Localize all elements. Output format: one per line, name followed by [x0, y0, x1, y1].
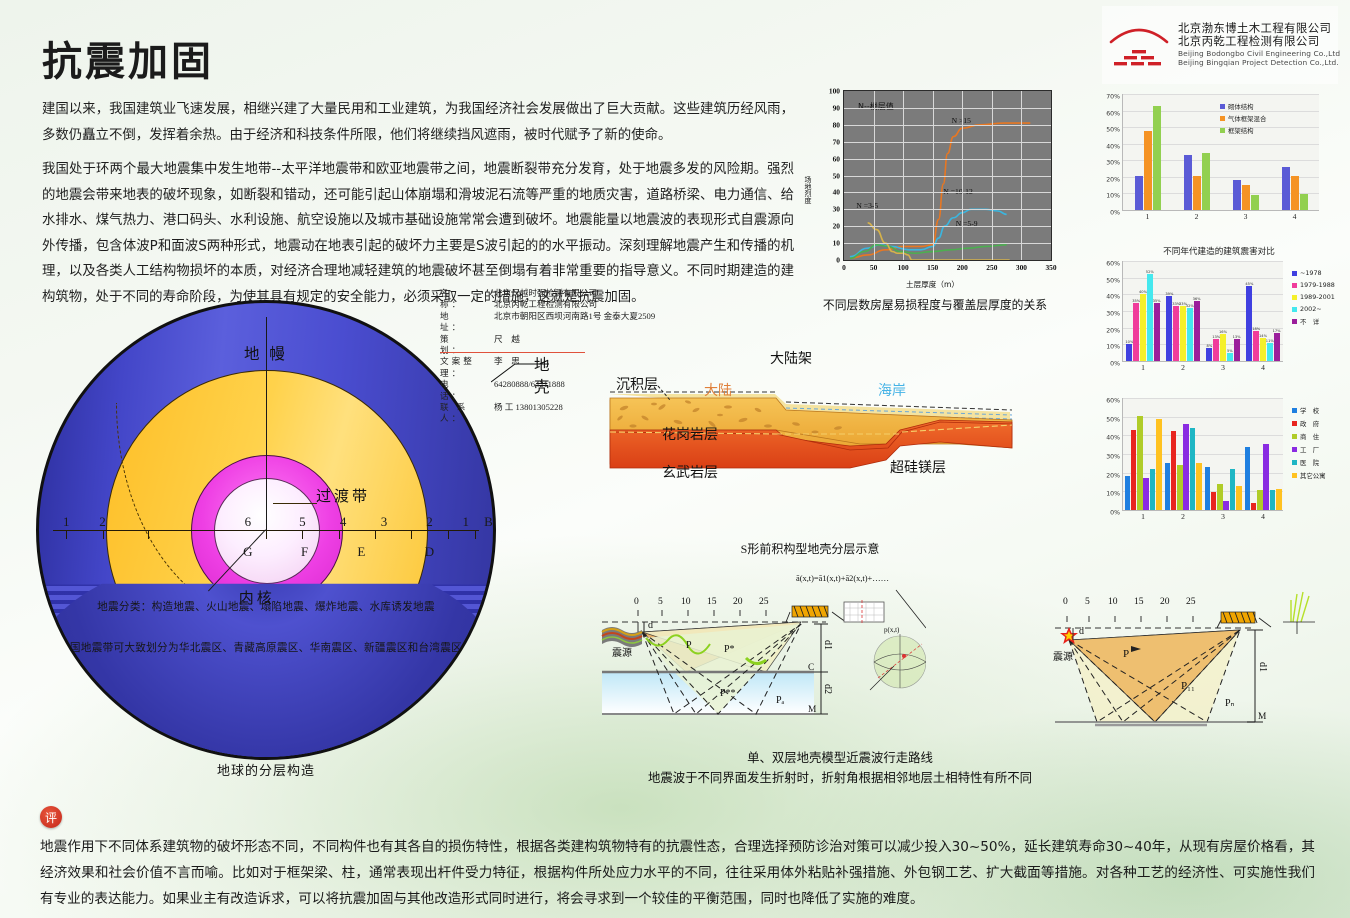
- scale-letter-D: D: [425, 544, 434, 560]
- company-logo: 北京渤东博土木工程有限公司 北京丙乾工程检测有限公司 Beijing Bodon…: [1102, 6, 1338, 84]
- logo-svg: [1108, 16, 1170, 74]
- wave1-tick-0: 0: [634, 596, 639, 607]
- contact-row: 名 称： 北京尺越时强检测有限公司 北京丙乾工程检测有限公司: [440, 288, 740, 311]
- chart3-bar-value: 18%: [1252, 327, 1260, 331]
- chart1-y-tick: 20: [833, 222, 840, 231]
- chart4-bar: [1196, 463, 1202, 510]
- chart1-gridline-h: [844, 108, 1051, 109]
- chart3-bar-value: 36%: [1193, 297, 1201, 301]
- scale-number-5: 5: [299, 514, 306, 530]
- scale-number-1: 1: [463, 514, 470, 530]
- chart4-bar: [1276, 489, 1282, 511]
- chart2-legend-swatch: [1220, 116, 1225, 121]
- chart2-bar: [1135, 176, 1143, 210]
- earth-diagram-caption: 地球的分层构造: [36, 760, 496, 779]
- chart2-y-tick: 60%: [1106, 110, 1120, 117]
- chart3-bar: 45%: [1246, 286, 1252, 361]
- chart2-bar: [1153, 106, 1161, 210]
- chart2-y-tick: 30%: [1106, 160, 1120, 167]
- wave2-tick-25: 25: [1186, 596, 1196, 607]
- wave-caption-line-2: 地震波于不同界面发生折射时，折射角根据相邻地层土相特性有所不同: [560, 768, 1120, 788]
- chart3-legend-label: 1989-2001: [1300, 293, 1335, 301]
- wave2-ray-pn: Pₙ: [1225, 698, 1235, 709]
- chart1-x-tick: 150: [927, 263, 938, 272]
- chart3-legend-swatch: [1292, 295, 1297, 300]
- wave1-tick-5: 5: [658, 596, 663, 607]
- chart3-bar: 17%: [1274, 333, 1280, 361]
- chart2-bar: [1184, 155, 1192, 210]
- wave-diagram-caption: 单、双层地壳模型近震波行走路线 地震波于不同界面发生折射时，折射角根据相邻地层土…: [560, 748, 1120, 788]
- transition-leader-line: [273, 503, 317, 504]
- chart1-x-axis-label: 土层厚度（m）: [805, 279, 1060, 290]
- footer-text: 地震作用下不同体系建筑物的破坏形态不同，不同构件也有其各自的损伤特性，根据各类建…: [40, 834, 1315, 912]
- scale-number-left-2: 2: [99, 514, 106, 530]
- chart4-legend-label: 商 住: [1300, 432, 1319, 441]
- chart1-x-tick: 200: [957, 263, 968, 272]
- chart2-plot-area: 0%10%20%30%40%50%60%70%1234: [1122, 94, 1319, 211]
- chart4-gridline: [1123, 417, 1283, 418]
- chart-building-use-bar: 0%10%20%30%40%50%60%1234学 校政 府商 住工 厂医 院其…: [1096, 392, 1342, 544]
- chart3-legend-item: 不 详: [1292, 317, 1319, 326]
- chart4-legend-label: 工 厂: [1300, 445, 1319, 454]
- chart4-plot-area: 0%10%20%30%40%50%60%1234: [1122, 398, 1283, 511]
- crust-diagram-caption: S形前积构型地壳分层示意: [600, 540, 1020, 557]
- chart3-bar-value: 16%: [1219, 330, 1227, 334]
- chart2-y-tick: 50%: [1106, 127, 1120, 134]
- chart4-y-tick: 40%: [1106, 435, 1120, 442]
- chart3-bar: 8%: [1206, 348, 1212, 361]
- chart1-y-tick: 100: [829, 87, 840, 96]
- chart4-bar: [1223, 501, 1229, 510]
- chart1-y-tick: 50: [833, 171, 840, 180]
- chart1-x-tick: 250: [986, 263, 997, 272]
- chart3-bar-value: 17%: [1273, 329, 1281, 333]
- chart1-y-tick: 30: [833, 205, 840, 214]
- label-continent: 大陆: [704, 380, 732, 400]
- wave-diagram-single-layer: 0 5 10 15 20 25 d 震源 P P₁₁ Pₙ d1 M: [1035, 580, 1320, 745]
- chart2-gridline: [1123, 94, 1319, 95]
- chart4-bar: [1245, 447, 1251, 511]
- wave1-ray-pn: Pₐ: [776, 695, 784, 706]
- chart4-bar: [1217, 484, 1223, 510]
- chart3-legend-item: 1979-1988: [1292, 281, 1335, 289]
- chart1-gridline-h: [844, 192, 1051, 193]
- chart4-gridline: [1123, 473, 1283, 474]
- chart4-gridline: [1123, 454, 1283, 455]
- chart3-y-tick: 20%: [1106, 327, 1120, 334]
- wave-diagram-two-layer: ā(x,t)=ā1(x,t)+ā2(x,t)+…… 震源 d d1 d2 C M…: [596, 580, 926, 745]
- chart3-legend-item: 1989-2001: [1292, 293, 1335, 301]
- logo-cn-line-2: 北京丙乾工程检测有限公司: [1178, 35, 1340, 48]
- chart3-y-tick: 10%: [1106, 344, 1120, 351]
- wave1-ray-pstarstar: P**: [720, 688, 736, 699]
- wave2-tick-0: 0: [1063, 596, 1068, 607]
- chart3-bar: 13%: [1213, 339, 1219, 361]
- scale-letter-B: B: [484, 514, 493, 530]
- chart3-legend-label: 1979-1988: [1300, 281, 1335, 289]
- label-sediment-layer: 沉积层: [616, 374, 658, 394]
- chart2-legend-label: 框架结构: [1228, 126, 1254, 135]
- chart3-bar: 33%: [1180, 306, 1186, 361]
- wave2-ray-p: P: [1123, 648, 1129, 660]
- chart4-legend-swatch: [1292, 460, 1297, 465]
- chart3-bar: 5%: [1227, 353, 1233, 361]
- chart1-caption: 不同层数房屋易损程度与覆盖层厚度的关系: [790, 296, 1080, 313]
- scale-number-6: 6: [245, 514, 252, 530]
- scale-number-3: 3: [381, 514, 388, 530]
- chart1-gridline-h: [844, 125, 1051, 126]
- chart4-bar: [1263, 444, 1269, 510]
- scale-number-2: 2: [426, 514, 433, 530]
- page-title: 抗震加固: [42, 42, 214, 82]
- chart2-y-tick: 0%: [1110, 210, 1120, 217]
- wave1-tick-10: 10: [681, 596, 691, 607]
- chart2-bar: [1193, 176, 1201, 210]
- chart2-x-tick: 3: [1244, 212, 1248, 221]
- chart3-legend-swatch: [1292, 271, 1297, 276]
- chart3-bar: 10%: [1126, 344, 1132, 361]
- chart3-bar: 11%: [1267, 343, 1273, 361]
- chart4-bar: [1177, 465, 1183, 510]
- label-ultra-silica-layer: 超硅镁层: [890, 457, 946, 477]
- chart4-legend-swatch: [1292, 447, 1297, 452]
- chart1-y-tick: 80: [833, 120, 840, 129]
- chart2-legend-item: 框架结构: [1220, 126, 1254, 135]
- wave1-tick-25: 25: [759, 596, 769, 607]
- chart4-bar: [1270, 490, 1276, 511]
- scale-number-left-1: 1: [63, 514, 70, 530]
- chart2-bar: [1282, 167, 1290, 210]
- contact-row: 地 址：北京市朝阳区西坝河南路1号 金泰大夏2509: [440, 311, 740, 334]
- chart-building-era-bar: 不同年代建造的建筑震害对比0%10%20%30%40%50%60%10%35%4…: [1096, 245, 1342, 397]
- chart1-y-tick: 40: [833, 188, 840, 197]
- contact-value: 北京市朝阳区西坝河南路1号 金泰大夏2509: [494, 311, 740, 334]
- chart4-bar: [1257, 490, 1263, 511]
- logo-text-block: 北京渤东博土木工程有限公司 北京丙乾工程检测有限公司 Beijing Bodon…: [1178, 22, 1340, 67]
- wave1-tick-20: 20: [733, 596, 743, 607]
- chart-structure-type-bar: 0%10%20%30%40%50%60%70%1234砌体结构气体框架混合框架结…: [1096, 88, 1342, 240]
- chart3-legend-swatch: [1292, 283, 1297, 288]
- label-continental-shelf: 大陆架: [770, 348, 812, 368]
- chart3-bar-value: 52%: [1146, 270, 1154, 274]
- contact-key: 电 话：: [440, 379, 494, 402]
- chart3-legend-label: 不 详: [1300, 317, 1319, 326]
- chart4-x-tick: 1: [1141, 512, 1145, 521]
- chart4-legend-item: 其它公寓: [1292, 471, 1326, 480]
- logo-mark-icon: [1108, 16, 1170, 74]
- chart2-y-tick: 40%: [1106, 143, 1120, 150]
- chart3-y-tick: 40%: [1106, 294, 1120, 301]
- chart3-bar-value: 13%: [1233, 335, 1241, 339]
- chart2-y-tick: 10%: [1106, 193, 1120, 200]
- chart3-y-tick: 60%: [1106, 261, 1120, 268]
- chart1-y-tick: 70: [833, 137, 840, 146]
- chart3-bar-value: 35%: [1153, 299, 1161, 303]
- chart4-bar: [1125, 476, 1131, 510]
- chart2-legend-item: 砌体结构: [1220, 102, 1254, 111]
- chart1-y-axis-label: 场地烈度: [803, 176, 813, 204]
- chart4-legend-label: 政 府: [1300, 419, 1319, 428]
- chart1-y-tick: 0: [836, 256, 840, 265]
- logo-en-line-2: Beijing Bingqian Project Detection Co.,L…: [1178, 59, 1340, 68]
- chart3-gridline: [1123, 261, 1283, 262]
- chart4-legend-swatch: [1292, 473, 1297, 478]
- chart4-x-tick: 3: [1221, 512, 1225, 521]
- chart3-plot-area: 0%10%20%30%40%50%60%10%35%40%52%35%139%3…: [1122, 261, 1283, 362]
- chart3-title: 不同年代建造的建筑震害对比: [1096, 245, 1342, 257]
- chart4-y-tick: 10%: [1106, 491, 1120, 498]
- chart4-y-tick: 0%: [1110, 510, 1120, 517]
- chart3-bar-value: 11%: [1266, 339, 1274, 343]
- chart4-bar: [1150, 469, 1156, 510]
- chart4-legend-item: 医 院: [1292, 458, 1319, 467]
- wave1-boundary-c: C: [808, 663, 814, 673]
- chart3-x-tick: 2: [1181, 363, 1185, 372]
- chart4-legend-item: 政 府: [1292, 419, 1319, 428]
- contact-company-2: 北京丙乾工程检测有限公司: [494, 299, 740, 310]
- comment-badge-icon: 评: [40, 806, 62, 828]
- wave2-boundary-m: M: [1258, 712, 1266, 722]
- chart1-plot-area: N--楼层值 N >15 N =10-12 N =5-9 N =3-5 0501…: [843, 90, 1052, 261]
- contact-value: 北京尺越时强检测有限公司 北京丙乾工程检测有限公司: [494, 288, 740, 311]
- chart4-bar: [1143, 478, 1149, 510]
- chart4-bar: [1211, 492, 1217, 510]
- contact-key: 联 系 人：: [440, 402, 494, 425]
- chart2-legend-label: 砌体结构: [1228, 102, 1254, 111]
- chart3-legend-swatch: [1292, 307, 1297, 312]
- wave1-depth-d: d: [648, 620, 653, 631]
- chart3-x-tick: 1: [1141, 363, 1145, 372]
- chart4-y-tick: 30%: [1106, 454, 1120, 461]
- chart1-gridline-h: [844, 243, 1051, 244]
- chart3-bar: 36%: [1194, 301, 1200, 361]
- chart4-gridline: [1123, 398, 1283, 399]
- logo-en-line-1: Beijing Bodongbo Civil Engineering Co.,L…: [1178, 50, 1340, 59]
- wave1-field-label: p(x,t): [884, 626, 899, 634]
- chart4-bar: [1165, 463, 1171, 510]
- chart4-bar: [1230, 469, 1236, 510]
- chart4-bar: [1156, 419, 1162, 511]
- chart2-x-tick: 4: [1293, 212, 1297, 221]
- chart4-bar: [1171, 431, 1177, 510]
- chart1-y-tick: 60: [833, 154, 840, 163]
- chart4-bar: [1236, 486, 1242, 510]
- chart2-legend-label: 气体框架混合: [1228, 114, 1266, 123]
- chart1-x-tick: 350: [1045, 263, 1056, 272]
- contact-key: 名 称：: [440, 288, 494, 311]
- chart3-bar-value: 35%: [1132, 299, 1140, 303]
- scale-letter-E: E: [357, 544, 365, 560]
- chart3-legend-label: ~1978: [1300, 269, 1322, 277]
- chart2-legend-swatch: [1220, 104, 1225, 109]
- chart3-y-tick: 0%: [1110, 361, 1120, 368]
- chart1-gridline-h: [844, 159, 1051, 160]
- chart3-legend-item: ~1978: [1292, 269, 1322, 277]
- chart3-bar: 35%: [1154, 303, 1160, 361]
- chart3-bar: 40%: [1140, 294, 1146, 361]
- chart3-bar-value: 14%: [1259, 334, 1267, 338]
- chart3-x-tick: 3: [1221, 363, 1225, 372]
- chart4-legend-label: 医 院: [1300, 458, 1319, 467]
- chart3-bar-value: 8%: [1207, 344, 1213, 348]
- earthquake-classification-note: 地震分类：构造地震、火山地震、塌陷地震、爆炸地震、水库诱发地震: [39, 600, 493, 615]
- chart2-bar: [1144, 131, 1152, 211]
- earth-sphere: 1 2 6 5 4 3 2 1 B G F E D 地 幔 过渡带 内核 地震分…: [36, 300, 496, 760]
- chart3-y-tick: 50%: [1106, 277, 1120, 284]
- wave1-ray-pstar: P*: [724, 644, 735, 655]
- wave-caption-line-1: 单、双层地壳模型近震波行走路线: [560, 748, 1120, 768]
- intro-paragraph-1: 建国以来，我国建筑业飞速发展，相继兴建了大量民用和工业建筑，为我国经济社会发展做…: [42, 97, 794, 148]
- chart4-gridline: [1123, 435, 1283, 436]
- wave2-tick-5: 5: [1085, 596, 1090, 607]
- earthquake-zones-note: 我国地震带可大致划分为华北震区、青藏高原震区、华南震区、新疆震区和台湾震区等: [39, 641, 493, 656]
- chart3-bar-value: 10%: [1125, 340, 1133, 344]
- chart2-bar: [1233, 180, 1241, 210]
- chart3-bar: 16%: [1220, 334, 1226, 361]
- chart3-bar-value: 5%: [1227, 349, 1233, 353]
- chart3-bar-value: 45%: [1245, 282, 1253, 286]
- chart4-bar: [1137, 416, 1143, 510]
- wave-formula: ā(x,t)=ā1(x,t)+ā2(x,t)+……: [796, 574, 889, 583]
- wave2-source-label: 震源: [1053, 648, 1073, 663]
- chart1-gridline-h: [844, 142, 1051, 143]
- chart3-legend-label: 2002~: [1300, 305, 1322, 313]
- chart1-series-3: [868, 223, 1010, 260]
- wave1-depth-d1: d1: [822, 640, 833, 650]
- chart4-x-tick: 4: [1261, 512, 1265, 521]
- chart4-bar: [1251, 503, 1257, 511]
- chart1-x-tick: 50: [870, 263, 877, 272]
- chart4-bar: [1190, 428, 1196, 510]
- chart1-y-tick: 10: [833, 239, 840, 248]
- wave1-source-label: 震源: [612, 644, 632, 659]
- chart4-x-tick: 2: [1181, 512, 1185, 521]
- chart3-bar-value: 40%: [1139, 290, 1147, 294]
- wave1-ray-p: P: [686, 640, 692, 651]
- chart4-y-tick: 20%: [1106, 472, 1120, 479]
- chart1-gridline-h: [844, 176, 1051, 177]
- wave1-depth-d2: d2: [822, 684, 833, 694]
- earth-structure-diagram: 1 2 6 5 4 3 2 1 B G F E D 地 幔 过渡带 内核 地震分…: [36, 300, 496, 760]
- wave1-tick-15: 15: [707, 596, 717, 607]
- chart3-bar: 35%: [1133, 303, 1139, 361]
- chart3-bar-value: 39%: [1165, 292, 1173, 296]
- chart2-legend-swatch: [1220, 128, 1225, 133]
- label-mantle: 地 幔: [244, 342, 288, 364]
- chart3-legend-swatch: [1292, 319, 1297, 324]
- chart4-bar: [1183, 424, 1189, 510]
- chart3-y-tick: 30%: [1106, 311, 1120, 318]
- chart4-legend-swatch: [1292, 408, 1297, 413]
- scale-number-4: 4: [340, 514, 347, 530]
- contact-key: 地 址：: [440, 311, 494, 334]
- chart3-bar-value: 32%: [1186, 304, 1194, 308]
- chart2-bar: [1242, 185, 1250, 210]
- chart3-bar: 13%: [1234, 339, 1240, 361]
- chart2-bar: [1251, 195, 1259, 210]
- chart2-legend-item: 气体框架混合: [1220, 114, 1266, 123]
- chart2-bar: [1300, 194, 1308, 210]
- wave2-tick-15: 15: [1134, 596, 1144, 607]
- scale-letter-G: G: [243, 544, 252, 560]
- chart4-legend-item: 工 厂: [1292, 445, 1319, 454]
- chart3-bar-value: 13%: [1212, 335, 1220, 339]
- chart1-y-tick: 90: [833, 103, 840, 112]
- chart2-y-tick: 20%: [1106, 176, 1120, 183]
- contact-company-1: 北京尺越时强检测有限公司: [494, 288, 740, 299]
- poster-canvas: 抗震加固 建国以来，我国建筑业飞速发展，相继兴建了大量民用和工业建筑，为我国经济…: [0, 0, 1350, 918]
- chart4-legend-swatch: [1292, 434, 1297, 439]
- chart1-x-tick: 0: [842, 263, 846, 272]
- contact-key: 文案整理：: [440, 356, 494, 379]
- chart3-bar: 32%: [1187, 308, 1193, 361]
- label-granite-layer: 花岗岩层: [662, 424, 718, 444]
- chart4-bar: [1131, 430, 1137, 510]
- chart3-bar: 33%: [1173, 306, 1179, 361]
- chart4-legend-item: 商 住: [1292, 432, 1319, 441]
- chart2-x-tick: 2: [1195, 212, 1199, 221]
- wave2-tick-10: 10: [1108, 596, 1118, 607]
- crust-layer-diagram: 大陆架 沉积层 大陆 海岸 花岗岩层 玄武岩层 超硅镁层: [600, 352, 1020, 532]
- chart4-bar: [1205, 467, 1211, 510]
- chart4-legend-item: 学 校: [1292, 406, 1319, 415]
- chart3-bar: 52%: [1147, 274, 1153, 361]
- chart1-gridline-h: [844, 226, 1051, 227]
- chart2-x-tick: 1: [1146, 212, 1150, 221]
- chart1-gridline-h: [844, 209, 1051, 210]
- scale-letter-F: F: [301, 544, 308, 560]
- wave2-tick-20: 20: [1160, 596, 1170, 607]
- wave2-depth-d1: d1: [1257, 662, 1268, 672]
- chart4-legend-label: 学 校: [1300, 406, 1319, 415]
- chart-soil-thickness-line: N--楼层值 N >15 N =10-12 N =5-9 N =3-5 0501…: [805, 84, 1060, 289]
- chart2-bar: [1202, 153, 1210, 210]
- wave2-svg: [1035, 580, 1320, 745]
- chart4-legend-label: 其它公寓: [1300, 471, 1326, 480]
- chart4-y-tick: 60%: [1106, 398, 1120, 405]
- chart4-legend-swatch: [1292, 421, 1297, 426]
- contact-divider: [440, 352, 585, 353]
- chart2-bar: [1291, 176, 1299, 210]
- wave2-depth-d: d: [1079, 626, 1084, 637]
- label-coast: 海岸: [878, 380, 906, 400]
- chart1-x-tick: 300: [1016, 263, 1027, 272]
- intro-text: 建国以来，我国建筑业飞速发展，相继兴建了大量民用和工业建筑，为我国经济社会发展做…: [42, 97, 794, 319]
- chart4-y-tick: 50%: [1106, 416, 1120, 423]
- label-transition-zone: 过渡带: [316, 485, 370, 506]
- chart1-x-tick: 100: [898, 263, 909, 272]
- label-basalt-layer: 玄武岩层: [662, 462, 718, 482]
- chart2-y-tick: 70%: [1106, 94, 1120, 101]
- wave2-ray-p11: P₁₁: [1181, 680, 1195, 692]
- chart3-x-tick: 4: [1261, 363, 1265, 372]
- wave1-boundary-m: M: [808, 705, 816, 715]
- chart3-legend-item: 2002~: [1292, 305, 1322, 313]
